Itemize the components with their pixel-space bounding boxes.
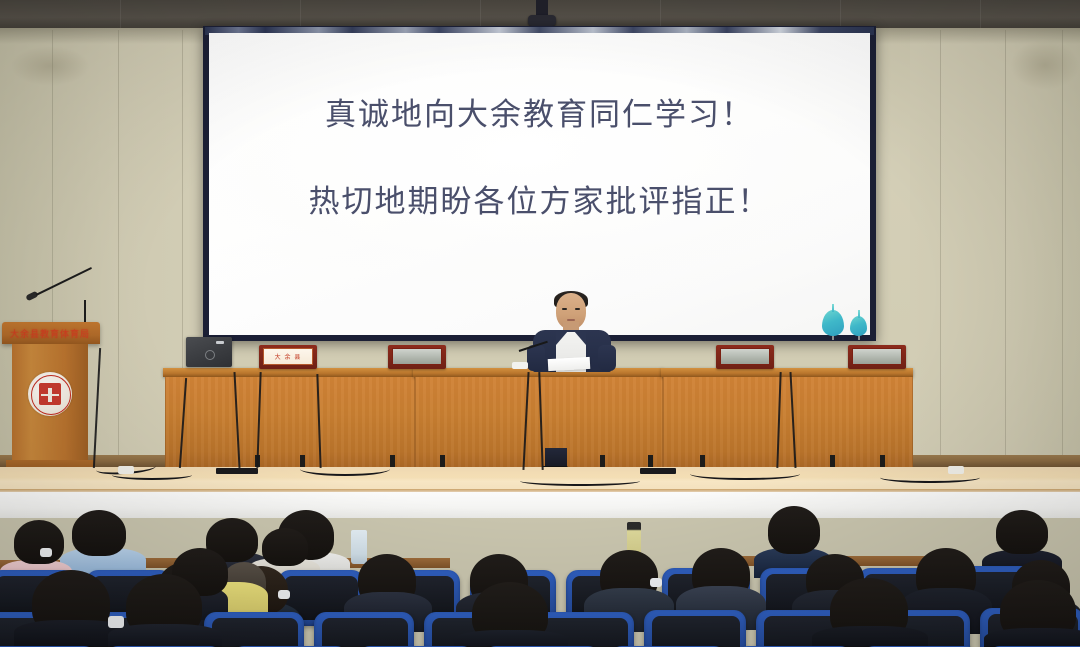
water-drop-icon — [850, 316, 867, 336]
attendee-head — [72, 510, 126, 556]
podium-microphone-stem — [84, 300, 86, 324]
wall-seam — [1005, 30, 1006, 460]
seat-cushion — [212, 618, 298, 647]
laptop-sticker — [216, 341, 224, 344]
attendee-shoulders — [812, 626, 928, 647]
speaker-eye — [575, 308, 580, 310]
slide-line-2: 热切地期盼各位方家批评指正！ — [309, 176, 771, 221]
wall-seam — [1062, 30, 1063, 460]
attendee-head — [14, 520, 64, 564]
nameplate-panel — [852, 348, 902, 365]
table-microphone-base — [512, 362, 528, 369]
slide-content: 真诚地向大余教育同仁学习！ 热切地期盼各位方家批评指正！ — [209, 33, 870, 335]
face-mask — [40, 548, 52, 557]
attendee-head — [768, 506, 820, 554]
back-wall-right — [910, 28, 1080, 480]
wall-baseboard — [0, 455, 1080, 467]
speaker-arm — [527, 345, 545, 371]
speaker-eye — [562, 308, 567, 310]
audience-area — [0, 470, 1080, 647]
podium-banner: 大余县教育体育局 — [4, 327, 96, 339]
projector-icon — [528, 15, 556, 26]
seat-cushion — [322, 618, 408, 647]
seat-cushion — [652, 616, 740, 647]
speaker-arm — [598, 345, 616, 371]
attendee-shoulders — [454, 630, 568, 647]
face-mask — [650, 578, 662, 587]
laptop-logo-icon — [205, 350, 215, 360]
slide-decoration — [820, 306, 884, 340]
attendee-shoulders — [984, 628, 1080, 647]
speaker-document — [548, 357, 591, 371]
nameplate-panel — [392, 348, 442, 365]
water-bottle — [351, 530, 367, 564]
water-drop-icon — [822, 310, 844, 336]
face-mask — [108, 616, 124, 628]
attendee-head — [996, 510, 1048, 554]
lecture-hall-scene: 真诚地向大余教育同仁学习！ 热切地期盼各位方家批评指正！ 大余县教育体育局 — [0, 0, 1080, 647]
face-mask — [278, 590, 290, 599]
slide-line-1: 真诚地向大余教育同仁学习！ — [325, 89, 754, 134]
nameplate-card: 大 余 县 — [263, 348, 313, 365]
attendee-shoulders — [108, 624, 222, 647]
speaker-mouth — [567, 319, 575, 321]
wall-seam — [118, 30, 119, 470]
wall-seam — [940, 30, 941, 460]
nameplate-panel — [720, 348, 770, 365]
podium-emblem-detail — [41, 394, 59, 396]
attendee-head — [262, 528, 308, 566]
